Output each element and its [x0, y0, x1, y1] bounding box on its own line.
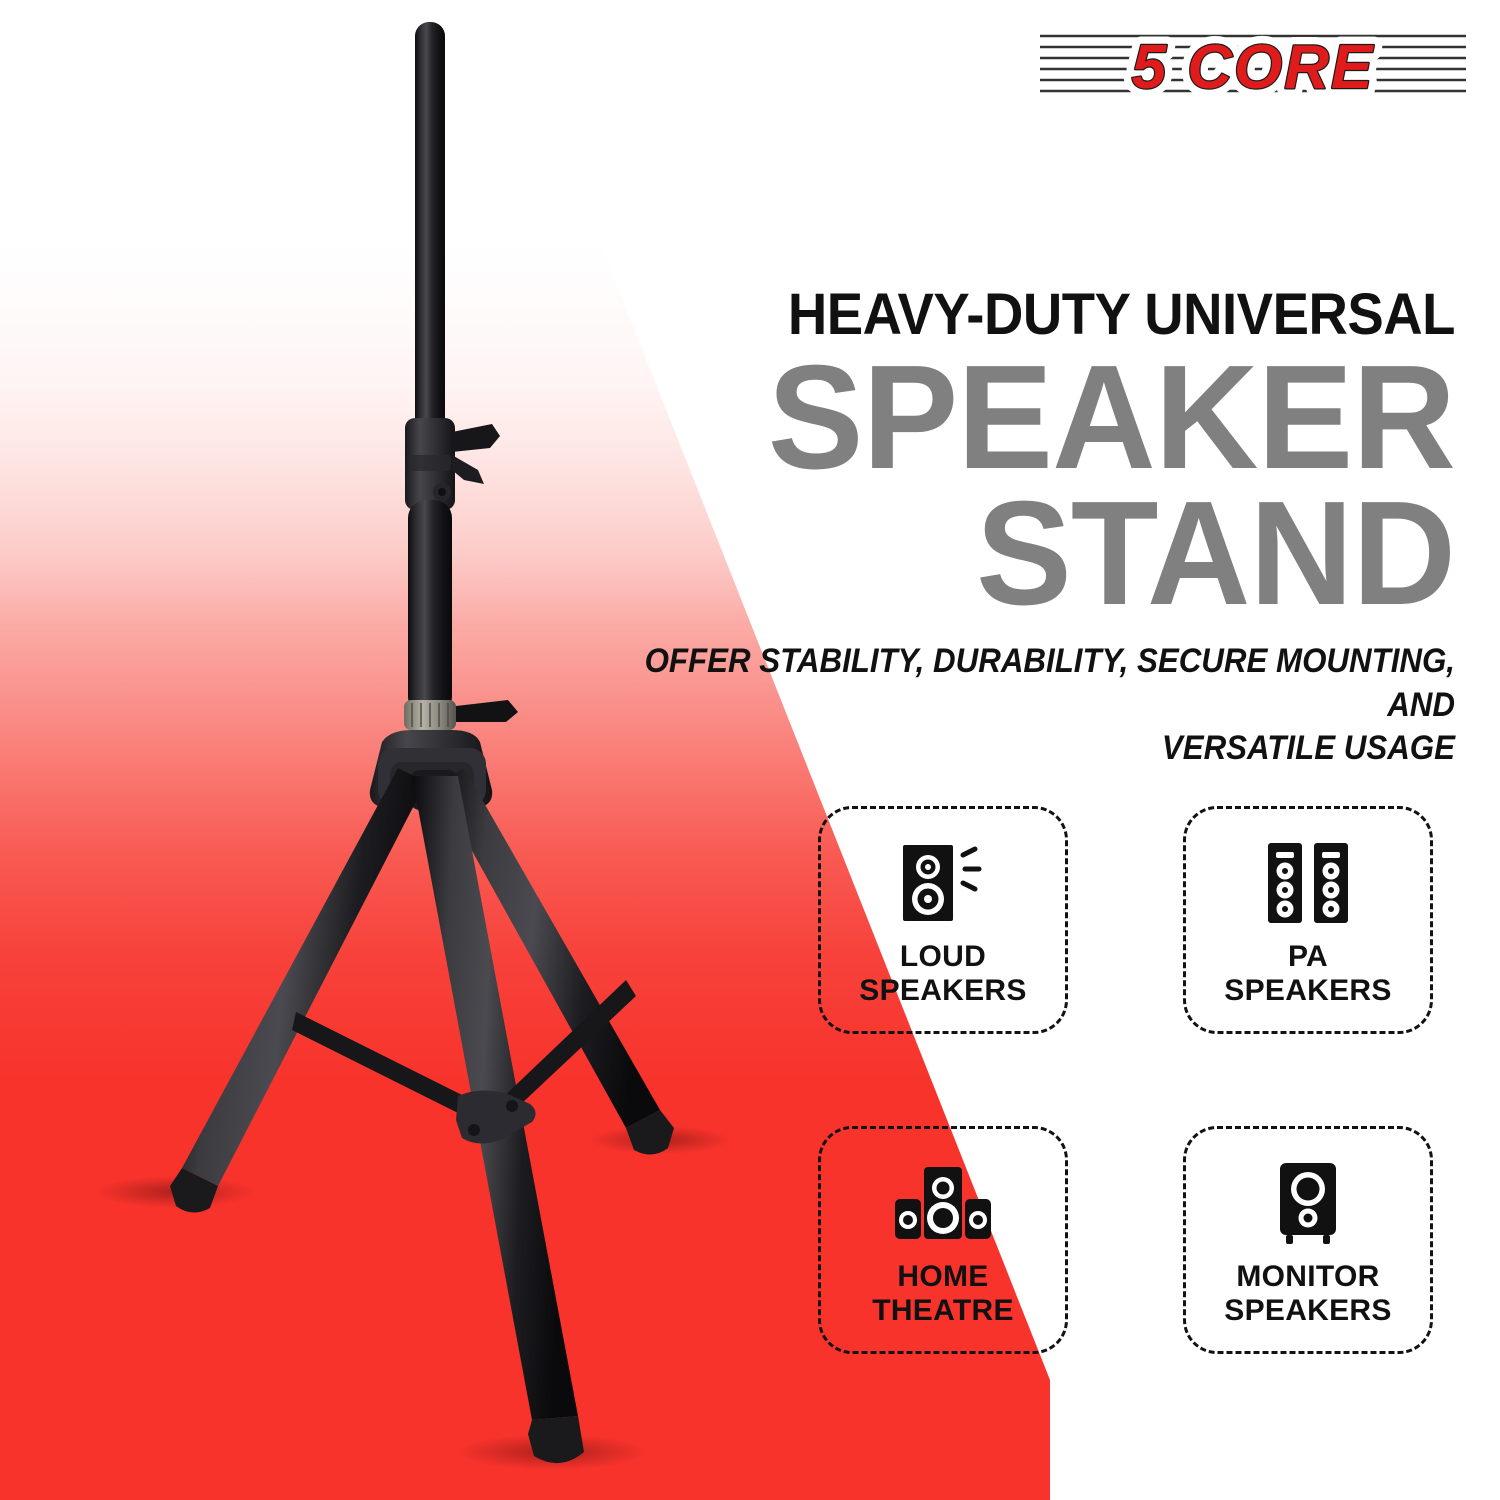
feature-label-line2: THEATRE [872, 1294, 1014, 1328]
headline-line-stand: STAND [548, 486, 1455, 622]
headline-line-speaker: SPEAKER [548, 350, 1455, 486]
pa-speakers-icon [1262, 836, 1354, 930]
tripod-leg-left [170, 768, 426, 1213]
subtitle-line-1: OFFER STABILITY, DURABILITY, SECURE MOUN… [595, 640, 1455, 727]
product-marketing-banner: 5 CORE 5 CORE 5 CORE HEAVY-DUTY UNIVERSA… [0, 0, 1500, 1500]
subtitle-line-2: VERSATILE USAGE [595, 727, 1455, 771]
feature-label-loud-speakers: LOUD SPEAKERS [859, 940, 1026, 1007]
feature-card-loud-speakers[interactable]: LOUD SPEAKERS [818, 806, 1068, 1034]
brand-logo-5-core: 5 CORE 5 CORE 5 CORE [1038, 26, 1468, 104]
home-theatre-icon [891, 1156, 995, 1250]
feature-label-line1: PA [1224, 940, 1391, 974]
feature-card-monitor-speakers[interactable]: MONITOR SPEAKERS [1183, 1126, 1433, 1354]
loud-speaker-icon [895, 836, 991, 930]
headline-subtitle: OFFER STABILITY, DURABILITY, SECURE MOUN… [595, 640, 1455, 771]
feature-label-line2: SPEAKERS [1224, 1294, 1391, 1328]
headline-block: HEAVY-DUTY UNIVERSAL SPEAKER STAND OFFER… [520, 286, 1455, 771]
logo-text: 5 CORE [1132, 33, 1375, 102]
feature-label-pa-speakers: PA SPEAKERS [1224, 940, 1391, 1007]
hub-collar [404, 700, 518, 730]
feature-label-line1: MONITOR [1224, 1260, 1391, 1294]
feature-grid: LOUD SPEAKERS [818, 806, 1438, 1354]
feature-label-line1: HOME [872, 1260, 1014, 1294]
feature-label-home-theatre: HOME THEATRE [872, 1260, 1014, 1327]
5-core-logo-mark: 5 CORE 5 CORE 5 CORE [1038, 26, 1468, 104]
feature-label-line2: SPEAKERS [1224, 974, 1391, 1008]
feature-card-home-theatre[interactable]: HOME THEATRE [818, 1126, 1068, 1354]
monitor-speaker-icon [1270, 1156, 1346, 1250]
feature-label-line1: LOUD [859, 940, 1026, 974]
feature-label-line2: SPEAKERS [859, 974, 1026, 1008]
feature-label-monitor-speakers: MONITOR SPEAKERS [1224, 1260, 1391, 1327]
feature-card-pa-speakers[interactable]: PA SPEAKERS [1183, 806, 1433, 1034]
logo-wordmark: 5 CORE 5 CORE 5 CORE [1132, 33, 1375, 102]
upper-clamp [405, 418, 500, 510]
